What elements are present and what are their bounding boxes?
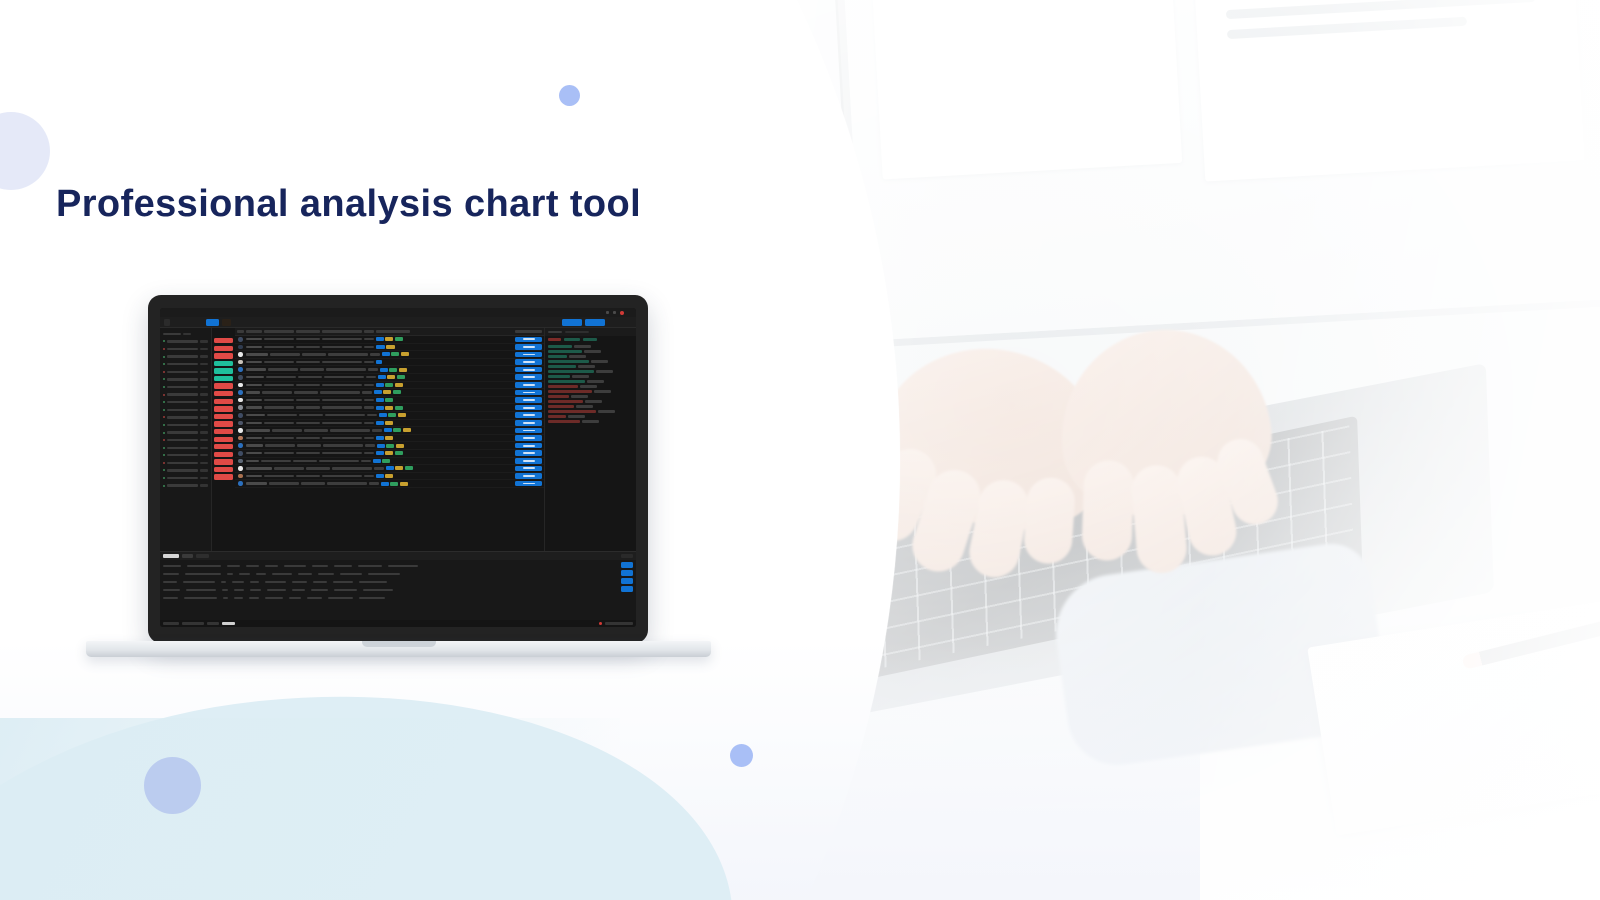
table-row[interactable] (235, 397, 544, 405)
laptop-base-notch (362, 641, 436, 647)
status-badge (214, 429, 233, 434)
list-item[interactable] (160, 467, 211, 475)
row-action-button[interactable] (515, 337, 542, 343)
table-row[interactable] (235, 458, 544, 466)
table-row[interactable] (235, 359, 544, 367)
connection-status-icon (599, 622, 602, 625)
toolbar-action-secondary[interactable] (585, 319, 605, 326)
toolbar-search-icon[interactable] (185, 319, 191, 326)
status-badge (214, 406, 233, 411)
tag-group (376, 474, 410, 478)
toolbar-logo (173, 319, 182, 326)
table-row[interactable] (235, 435, 544, 443)
status-badge (214, 353, 233, 358)
row-action-button[interactable] (515, 412, 542, 418)
decorative-circle-bottom-center (730, 744, 753, 767)
list-item[interactable] (160, 398, 211, 406)
asset-icon (237, 405, 244, 410)
decorative-wave-soft (0, 718, 620, 900)
table-row[interactable] (235, 442, 544, 450)
table-row[interactable] (235, 427, 544, 435)
list-item[interactable] (160, 474, 211, 482)
tag-group (376, 345, 410, 349)
status-badge (214, 452, 233, 457)
row-action-button[interactable] (515, 443, 542, 449)
row-action-button[interactable] (515, 435, 542, 441)
status-badge (214, 368, 233, 373)
tag-group (379, 413, 413, 417)
positions-panel[interactable] (160, 551, 636, 627)
status-bar (160, 620, 636, 627)
asset-icon (237, 459, 244, 464)
status-badge (214, 437, 233, 442)
list-item[interactable] (160, 345, 211, 353)
asset-icon (237, 360, 244, 365)
asset-icon (237, 398, 244, 403)
table-row[interactable] (235, 465, 544, 473)
title-bar-label (628, 311, 631, 315)
list-item[interactable] (160, 376, 211, 384)
table-row[interactable] (235, 344, 544, 352)
row-action-button[interactable] (515, 344, 542, 350)
app-title-bar (160, 308, 636, 317)
status-badge (214, 376, 233, 381)
dashboard-app (160, 308, 636, 627)
book-row (548, 419, 633, 424)
panel-button[interactable] (621, 578, 633, 584)
status-badge (214, 383, 233, 388)
table-header-row (235, 328, 544, 336)
list-item[interactable] (160, 406, 211, 414)
tag-group (378, 375, 412, 379)
tab-history[interactable] (196, 554, 209, 558)
table-row[interactable] (235, 374, 544, 382)
tag-group (384, 428, 418, 432)
row-action-button[interactable] (515, 428, 542, 434)
toolbar-tab-4[interactable] (262, 319, 276, 326)
panel-button[interactable] (621, 586, 633, 592)
row-action-button[interactable] (515, 458, 542, 464)
row-action-button[interactable] (515, 397, 542, 403)
status-badge (214, 399, 233, 404)
asset-icon (237, 474, 244, 479)
row-action-button[interactable] (515, 450, 542, 456)
list-item[interactable] (160, 429, 211, 437)
row-action-button[interactable] (515, 359, 542, 365)
tag-group (376, 337, 410, 341)
order-book-rows (545, 343, 636, 425)
asset-icon (237, 481, 244, 486)
list-item[interactable] (160, 368, 211, 376)
asset-icon (237, 383, 244, 388)
asset-icon (237, 428, 244, 433)
tag-group (376, 360, 410, 364)
minimize-icon[interactable] (606, 311, 609, 314)
asset-icon (237, 375, 244, 380)
laptop-screen[interactable] (160, 308, 636, 627)
order-book-header (545, 328, 636, 336)
table-row[interactable] (235, 412, 544, 420)
list-item[interactable] (160, 338, 211, 346)
table-row[interactable] (235, 336, 544, 344)
list-item[interactable] (160, 391, 211, 399)
toolbar-menu-icon[interactable] (164, 319, 170, 326)
row-action-button[interactable] (515, 405, 542, 411)
asset-icon (237, 413, 244, 418)
table-row (163, 570, 633, 578)
tag-group (380, 368, 414, 372)
table-row (163, 594, 633, 602)
table-row[interactable] (235, 450, 544, 458)
toolbar-tab-active[interactable] (206, 319, 219, 326)
order-book-summary (545, 336, 636, 343)
page-title: Professional analysis chart tool (56, 183, 641, 226)
positions-tabs (160, 552, 636, 560)
table-header-row (163, 562, 633, 570)
maximize-icon[interactable] (613, 311, 616, 314)
toolbar-symbol-label (194, 319, 203, 326)
table-row[interactable] (235, 420, 544, 428)
laptop-mockup (86, 295, 711, 665)
table-row[interactable] (235, 351, 544, 359)
row-action-button[interactable] (515, 382, 542, 388)
page-root: 24 14 (0, 0, 1600, 900)
list-item[interactable] (160, 482, 211, 490)
table-row[interactable] (235, 404, 544, 412)
panel-button[interactable] (621, 570, 633, 576)
asset-icon (237, 367, 244, 372)
asset-icon (237, 390, 244, 395)
toolbar-tab-alerts[interactable] (222, 319, 231, 326)
laptop-lid (148, 295, 648, 643)
asset-icon (237, 421, 244, 426)
buy-total (564, 338, 580, 340)
status-badge (214, 467, 233, 472)
list-item[interactable] (160, 444, 211, 452)
app-toolbar (160, 317, 636, 328)
list-item[interactable] (160, 452, 211, 460)
tag-group (377, 444, 411, 448)
toolbar-tab-6[interactable] (294, 319, 305, 326)
row-action-button[interactable] (515, 352, 542, 358)
asset-icon (237, 352, 244, 357)
table-row (163, 578, 633, 586)
decorative-circle-top (559, 85, 580, 106)
tag-group (376, 436, 410, 440)
table-row[interactable] (235, 382, 544, 390)
decorative-circle-bottom-left (144, 757, 201, 814)
table-row[interactable] (235, 366, 544, 374)
asset-icon (237, 466, 244, 471)
table-row[interactable] (235, 389, 544, 397)
status-badge (214, 421, 233, 426)
list-item[interactable] (160, 383, 211, 391)
toolbar-tab-2[interactable] (234, 319, 246, 326)
toolbar-account-label[interactable] (608, 319, 632, 326)
tag-group (376, 383, 410, 387)
tag-group (382, 352, 416, 356)
panel-action-buttons[interactable] (621, 562, 633, 594)
tag-group (376, 398, 410, 402)
row-action-button[interactable] (515, 466, 542, 472)
list-item[interactable] (160, 353, 211, 361)
row-action-button[interactable] (515, 473, 542, 479)
list-item[interactable] (160, 421, 211, 429)
tag-group (386, 466, 420, 470)
panel-button[interactable] (621, 562, 633, 568)
asset-icon (237, 337, 244, 342)
status-badge (214, 444, 233, 449)
row-action-button[interactable] (515, 367, 542, 373)
asset-icon (237, 436, 244, 441)
status-badge (214, 338, 233, 343)
record-indicator-icon (620, 311, 624, 315)
status-badge (214, 391, 233, 396)
tag-group (376, 451, 410, 455)
asset-icon (237, 443, 244, 448)
tag-group (374, 390, 408, 394)
tag-group (376, 406, 410, 410)
asset-icon (237, 451, 244, 456)
status-badge (214, 459, 233, 464)
tag-group (376, 421, 410, 425)
sell-total (548, 338, 561, 340)
asset-icon (237, 345, 244, 350)
status-badge (214, 346, 233, 351)
watchlist-header (160, 330, 211, 338)
table-row[interactable] (235, 473, 544, 481)
tab-orders[interactable] (182, 554, 193, 558)
tab-positions[interactable] (163, 554, 179, 558)
list-item[interactable] (160, 360, 211, 368)
tag-group (373, 459, 407, 463)
panel-controls[interactable] (621, 554, 633, 558)
tag-group (381, 482, 415, 486)
status-badge (214, 361, 233, 366)
row-action-button[interactable] (515, 390, 542, 396)
row-action-button[interactable] (515, 481, 542, 487)
table-row[interactable] (235, 480, 544, 488)
row-action-button[interactable] (515, 420, 542, 426)
list-item[interactable] (160, 436, 211, 444)
status-badge (214, 414, 233, 419)
list-item[interactable] (160, 459, 211, 467)
buy-total-2 (583, 338, 597, 340)
toolbar-action-primary[interactable] (562, 319, 582, 326)
table-row (163, 586, 633, 594)
toolbar-tab-3[interactable] (249, 319, 259, 326)
positions-grid (160, 560, 636, 604)
list-item[interactable] (160, 414, 211, 422)
status-badge (214, 474, 233, 479)
toolbar-tab-7[interactable] (308, 319, 328, 326)
row-action-button[interactable] (515, 374, 542, 380)
toolbar-tab-5[interactable] (279, 319, 291, 326)
